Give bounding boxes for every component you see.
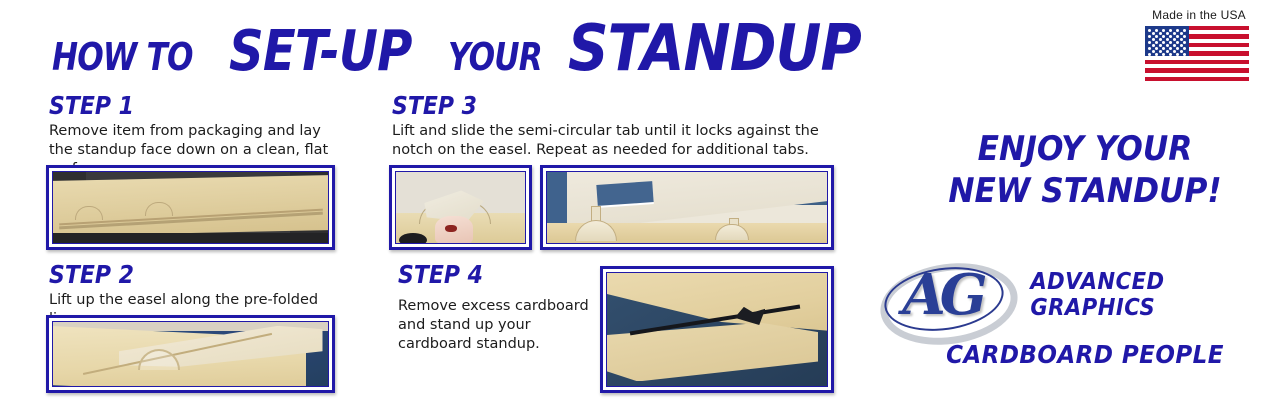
step-4-body: Remove excess cardboard and stand up you… [398, 297, 598, 354]
made-in-usa-badge: Made in the USA [1145, 8, 1253, 81]
title-part-standup: STANDUP [568, 12, 861, 86]
step-3-title: STEP 3 [392, 93, 832, 119]
ag-monogram: AG [878, 252, 1006, 338]
step-2-photo [46, 315, 335, 393]
step-3-photo-b [540, 165, 834, 250]
brand-tagline: CARDBOARD PEOPLE [900, 340, 1270, 369]
brand-row: AG ADVANCED GRAPHICS [878, 250, 1275, 340]
step-1-photo [46, 165, 335, 250]
made-in-usa-label: Made in the USA [1145, 8, 1253, 22]
step-4-title: STEP 4 [398, 262, 598, 288]
step-1-title: STEP 1 [49, 93, 349, 119]
enjoy-message: ENJOY YOUR NEW STANDUP! [900, 128, 1270, 212]
step-4-block: STEP 4 Remove excess cardboard and stand… [398, 262, 598, 354]
page-title: HOW TO SET-UP YOUR STANDUP [52, 12, 882, 80]
step-3-body: Lift and slide the semi-circular tab unt… [392, 122, 832, 160]
enjoy-line-2: NEW STANDUP! [915, 170, 1255, 212]
step-3-block: STEP 3 Lift and slide the semi-circular … [392, 93, 832, 160]
brand-name: ADVANCED GRAPHICS [1020, 269, 1275, 321]
advanced-graphics-logo-icon: AG [878, 252, 1006, 338]
step-4-photo [600, 266, 834, 393]
instruction-sheet: HOW TO SET-UP YOUR STANDUP Made in the U… [0, 0, 1275, 417]
enjoy-line-1: ENJOY YOUR [915, 128, 1255, 170]
step-3-photo-a [389, 165, 532, 250]
title-part-how-to: HOW TO [52, 35, 193, 79]
step-2-title: STEP 2 [49, 262, 349, 288]
us-flag-icon [1145, 26, 1249, 81]
title-part-your: YOUR [448, 35, 542, 79]
title-part-set-up: SET-UP [229, 19, 412, 84]
